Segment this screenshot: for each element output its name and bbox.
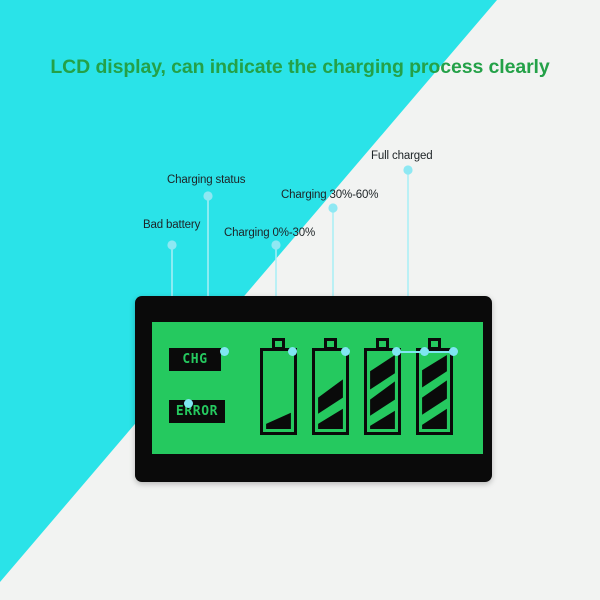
indicator-dot-battery-1	[288, 347, 297, 356]
callout-bad-battery: Bad battery	[143, 219, 200, 231]
battery-body-3	[364, 348, 401, 435]
indicator-dot-battery-5	[449, 347, 458, 356]
indicator-dot-chg	[220, 347, 229, 356]
indicator-dot-battery-2	[341, 347, 350, 356]
battery-body-1	[260, 348, 297, 435]
battery-level-fill-1	[263, 351, 294, 432]
battery-body-2	[312, 348, 349, 435]
battery-level-fill-4	[419, 351, 450, 432]
battery-level-fill-3	[367, 351, 398, 432]
screenshot-root: LCD display, can indicate the charging p…	[0, 0, 600, 600]
indicator-dot-battery-4	[420, 347, 429, 356]
status-badge-error: ERROR	[169, 400, 225, 423]
battery-level-fill-2	[315, 351, 346, 432]
lcd-module-bezel: CHG ERROR	[135, 296, 492, 482]
callout-charging-status: Charging status	[167, 174, 245, 186]
callout-charging-0-30: Charging 0%-30%	[224, 227, 315, 239]
lcd-screen: CHG ERROR	[152, 322, 483, 454]
callout-charging-30-60: Charging 30%-60%	[281, 189, 378, 201]
indicator-dot-battery-3	[392, 347, 401, 356]
status-badge-chg: CHG	[169, 348, 221, 371]
callout-full-charged: Full charged	[371, 150, 432, 162]
indicator-dot-error	[184, 399, 193, 408]
page-title: LCD display, can indicate the charging p…	[0, 56, 600, 79]
battery-body-4	[416, 348, 453, 435]
